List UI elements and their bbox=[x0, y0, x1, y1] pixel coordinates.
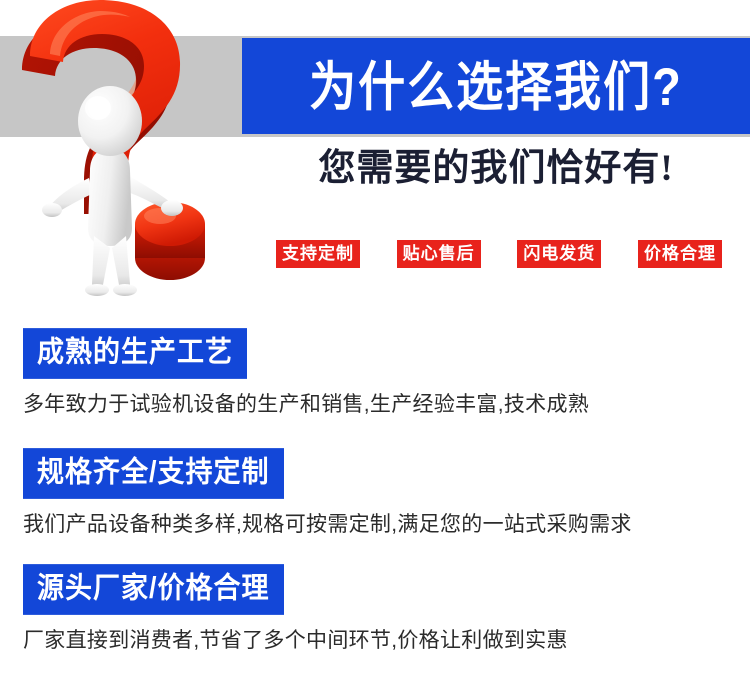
feature-heading-full-specs-customization: 规格齐全/支持定制 bbox=[23, 448, 284, 499]
hero-banner-title: 为什么选择我们? bbox=[309, 60, 683, 113]
badge-after-sales[interactable]: 贴心售后 bbox=[397, 240, 481, 268]
feature-badge-list: 支持定制 贴心售后 闪电发货 价格合理 bbox=[276, 240, 722, 268]
badge-fast-shipping[interactable]: 闪电发货 bbox=[517, 240, 601, 268]
badge-custom-support[interactable]: 支持定制 bbox=[276, 240, 360, 268]
feature-body-full-specs-customization: 我们产品设备种类多样,规格可按需定制,满足您的一站式采购需求 bbox=[23, 509, 730, 542]
feature-body-source-factory-pricing: 厂家直接到消费者,节省了多个中间环节,价格让利做到实惠 bbox=[23, 625, 730, 658]
feature-body-production-process: 多年致力于试验机设备的生产和销售,生产经验丰富,技术成熟 bbox=[23, 389, 730, 422]
features-section: 成熟的生产工艺 多年致力于试验机设备的生产和销售,生产经验丰富,技术成熟 规格齐… bbox=[0, 300, 750, 658]
hero-section: 为什么选择我们? 您需要的我们恰好有! 支持定制 贴心售后 闪电发货 价格合理 bbox=[0, 0, 750, 300]
badge-fair-price[interactable]: 价格合理 bbox=[638, 240, 722, 268]
feature-heading-source-factory-pricing: 源头厂家/价格合理 bbox=[23, 564, 284, 615]
feature-heading-production-process: 成熟的生产工艺 bbox=[23, 328, 247, 379]
feature-item: 规格齐全/支持定制 我们产品设备种类多样,规格可按需定制,满足您的一站式采购需求 bbox=[0, 450, 750, 542]
hero-subheadline: 您需要的我们恰好有! bbox=[242, 148, 750, 191]
feature-item: 源头厂家/价格合理 厂家直接到消费者,节省了多个中间环节,价格让利做到实惠 bbox=[0, 566, 750, 658]
feature-item: 成熟的生产工艺 多年致力于试验机设备的生产和销售,生产经验丰富,技术成熟 bbox=[0, 330, 750, 422]
hero-banner: 为什么选择我们? bbox=[242, 38, 750, 134]
3d-question-mark-figure-icon bbox=[0, 0, 246, 298]
